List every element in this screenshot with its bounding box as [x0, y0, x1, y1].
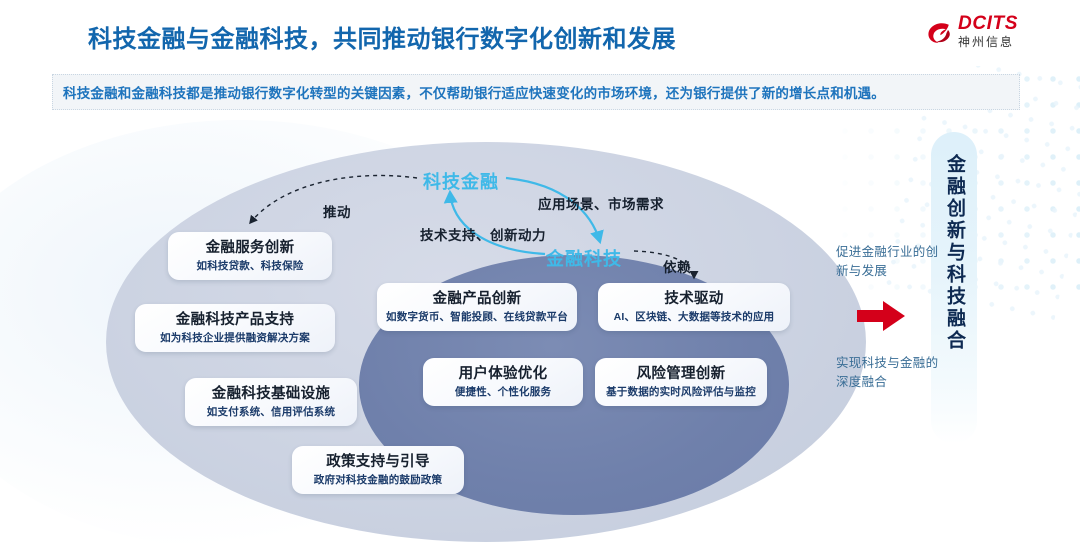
- node-subtitle: 基于数据的实时风险评估与监控: [606, 385, 756, 399]
- outcome-top-text: 促进金融行业的创新与发展: [836, 243, 946, 281]
- logo-en-text: DCITS: [958, 14, 1018, 34]
- node-title: 风险管理创新: [637, 365, 726, 383]
- label-yingyong: 应用场景、市场需求: [538, 193, 664, 213]
- outcome-bottom-text: 实现科技与金融的深度融合: [836, 354, 946, 392]
- node-technology-driven[interactable]: 技术驱动 AI、区块链、大数据等技术的应用: [598, 283, 790, 331]
- node-title: 金融科技基础设施: [212, 385, 330, 403]
- brand-logo: DCITS 神州信息: [924, 14, 1056, 56]
- arrow-tech-support: [450, 192, 545, 254]
- node-title: 技术驱动: [664, 290, 723, 308]
- node-subtitle: 如为科技企业提供融资解决方案: [160, 331, 310, 345]
- logo-cn-text: 神州信息: [958, 35, 1018, 50]
- node-subtitle: 如科技贷款、科技保险: [197, 259, 304, 273]
- node-subtitle: 如支付系统、信用评估系统: [207, 405, 335, 419]
- label-yilai: 依赖: [663, 256, 691, 276]
- label-keji-jinrong: 科技金融: [423, 168, 499, 194]
- node-subtitle: 如数字货币、智能投顾、在线贷款平台: [386, 310, 568, 324]
- label-jinrong-keji: 金融科技: [546, 245, 622, 271]
- node-financial-service-innovation[interactable]: 金融服务创新 如科技贷款、科技保险: [168, 232, 332, 280]
- node-risk-management-innovation[interactable]: 风险管理创新 基于数据的实时风险评估与监控: [595, 358, 767, 406]
- page-title: 科技金融与金融科技，共同推动银行数字化创新和发展: [88, 19, 676, 54]
- logo-text-block: DCITS 神州信息: [958, 14, 1018, 50]
- slide-canvas: 科技金融与金融科技，共同推动银行数字化创新和发展 DCITS 神州信息 科技金融…: [0, 0, 1080, 540]
- label-tuidong: 推动: [323, 201, 351, 221]
- node-policy-support[interactable]: 政策支持与引导 政府对科技金融的鼓励政策: [292, 446, 464, 494]
- node-title: 政策支持与引导: [326, 453, 430, 471]
- label-jishuzhichi: 技术支持、创新动力: [420, 224, 546, 244]
- node-fintech-product-support[interactable]: 金融科技产品支持 如为科技企业提供融资解决方案: [135, 304, 335, 352]
- node-subtitle: AI、区块链、大数据等技术的应用: [614, 310, 775, 324]
- subtitle-banner: 科技金融和金融科技都是推动银行数字化转型的关键因素，不仅帮助银行适应快速变化的市…: [52, 74, 1020, 110]
- node-fintech-infrastructure[interactable]: 金融科技基础设施 如支付系统、信用评估系统: [185, 378, 357, 426]
- node-subtitle: 便捷性、个性化服务: [455, 385, 551, 399]
- node-title: 金融服务创新: [206, 239, 295, 257]
- subtitle-text: 科技金融和金融科技都是推动银行数字化转型的关键因素，不仅帮助银行适应快速变化的市…: [53, 82, 885, 102]
- node-title: 金融科技产品支持: [176, 311, 294, 329]
- dcits-swirl-icon: [924, 18, 954, 48]
- outcome-panel: 金融创新与科技融合 促进金融行业的创新与发展 实现科技与金融的深度融合: [826, 118, 1080, 540]
- node-subtitle: 政府对科技金融的鼓励政策: [314, 473, 442, 487]
- node-financial-product-innovation[interactable]: 金融产品创新 如数字货币、智能投顾、在线贷款平台: [377, 283, 577, 331]
- red-arrow-icon: [855, 298, 907, 334]
- node-user-experience-optimization[interactable]: 用户体验优化 便捷性、个性化服务: [423, 358, 583, 406]
- node-title: 金融产品创新: [433, 290, 522, 308]
- node-title: 用户体验优化: [459, 365, 548, 383]
- slide-header: 科技金融与金融科技，共同推动银行数字化创新和发展 DCITS 神州信息: [0, 0, 1080, 66]
